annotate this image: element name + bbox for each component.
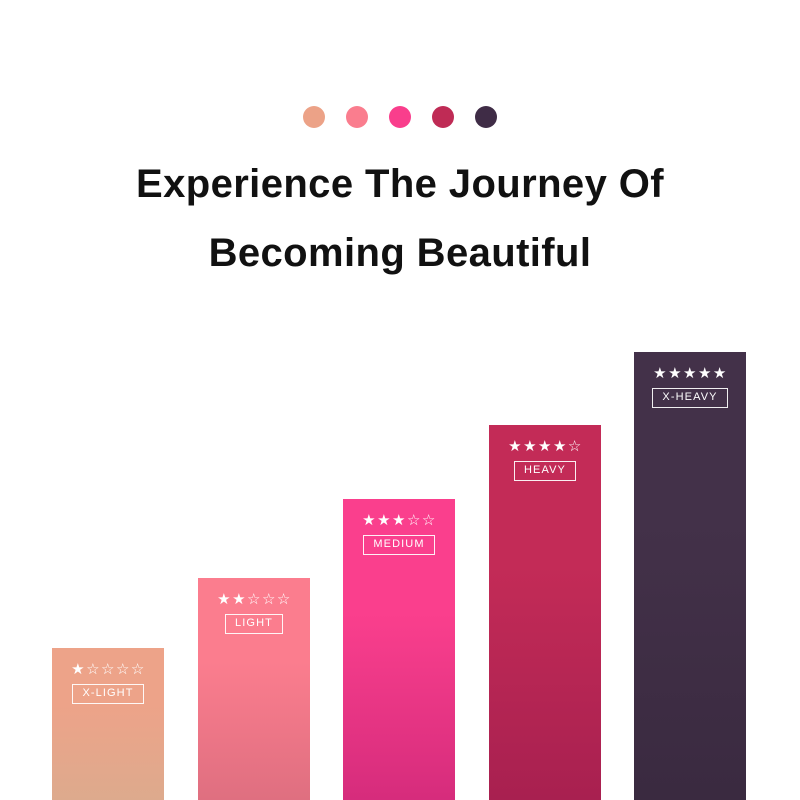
star-filled-icon: ★ (698, 366, 712, 381)
bar-20lb-level-badge: MEDIUM (363, 535, 434, 555)
bar-30lb[interactable]: 30LB★★★★☆HEAVY (489, 425, 601, 800)
star-filled-icon: ★ (553, 439, 567, 454)
star-empty-icon: ☆ (262, 592, 276, 607)
bar-10lb-rating-stars: ★☆☆☆☆ (71, 662, 145, 677)
bar-20lb-rating-stars: ★★★☆☆ (362, 513, 436, 528)
bar-40lb-rating-stars: ★★★★★ (653, 366, 727, 381)
bar-30lb-content: ★★★★☆HEAVY (489, 439, 601, 481)
star-empty-icon: ☆ (86, 662, 100, 677)
star-filled-icon: ★ (392, 513, 406, 528)
star-empty-icon: ☆ (247, 592, 261, 607)
bar-20lb[interactable]: 20LB★★★☆☆MEDIUM (343, 499, 455, 800)
bar-30lb-rating-stars: ★★★★☆ (508, 439, 582, 454)
star-filled-icon: ★ (683, 366, 697, 381)
star-filled-icon: ★ (653, 366, 667, 381)
bar-15lb-content: ★★☆☆☆LIGHT (198, 592, 310, 634)
bar-40lb[interactable]: 40LB★★★★★X-HEAVY (634, 352, 746, 800)
bar-30lb-level-badge: HEAVY (514, 461, 576, 481)
bar-10lb[interactable]: 10LB★☆☆☆☆X-LIGHT (52, 648, 164, 800)
star-empty-icon: ☆ (568, 439, 582, 454)
bar-15lb[interactable]: 15LB★★☆☆☆LIGHT (198, 578, 310, 800)
resistance-bar-chart: 10LB★☆☆☆☆X-LIGHT15LB★★☆☆☆LIGHT20LB★★★☆☆M… (0, 0, 800, 800)
star-filled-icon: ★ (508, 439, 522, 454)
star-empty-icon: ☆ (277, 592, 291, 607)
bar-20lb-content: ★★★☆☆MEDIUM (343, 513, 455, 555)
star-empty-icon: ☆ (101, 662, 115, 677)
star-filled-icon: ★ (377, 513, 391, 528)
star-filled-icon: ★ (538, 439, 552, 454)
star-filled-icon: ★ (523, 439, 537, 454)
star-empty-icon: ☆ (131, 662, 145, 677)
star-filled-icon: ★ (362, 513, 376, 528)
star-empty-icon: ☆ (116, 662, 130, 677)
bar-40lb-level-badge: X-HEAVY (652, 388, 727, 408)
star-empty-icon: ☆ (407, 513, 421, 528)
bar-40lb-content: ★★★★★X-HEAVY (634, 366, 746, 408)
star-filled-icon: ★ (232, 592, 246, 607)
star-filled-icon: ★ (217, 592, 231, 607)
star-filled-icon: ★ (668, 366, 682, 381)
star-filled-icon: ★ (713, 366, 727, 381)
bar-10lb-content: ★☆☆☆☆X-LIGHT (52, 662, 164, 704)
infographic-canvas: Experience The Journey Of Becoming Beaut… (0, 0, 800, 800)
bar-15lb-rating-stars: ★★☆☆☆ (217, 592, 291, 607)
bar-15lb-level-badge: LIGHT (225, 614, 283, 634)
star-filled-icon: ★ (71, 662, 85, 677)
bar-10lb-level-badge: X-LIGHT (72, 684, 143, 704)
star-empty-icon: ☆ (422, 513, 436, 528)
